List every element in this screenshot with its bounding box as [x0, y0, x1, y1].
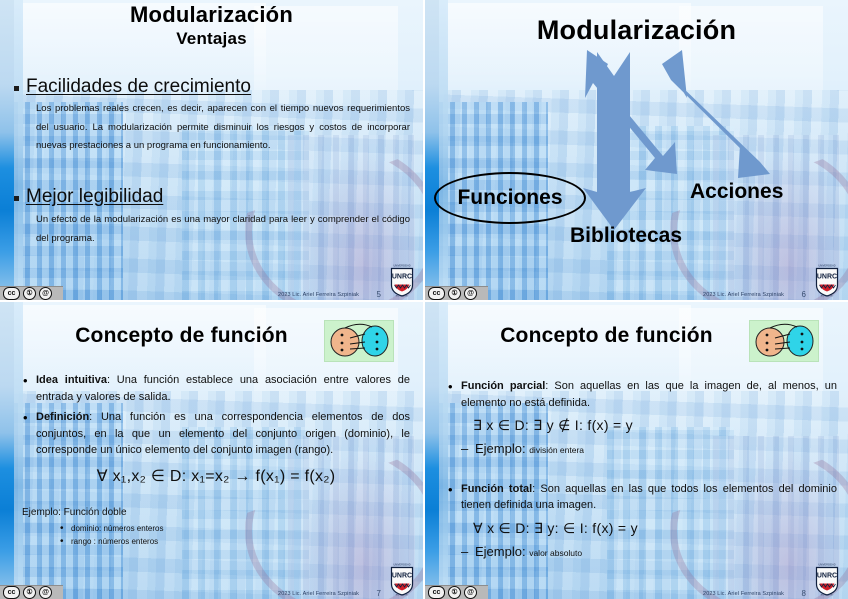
bullet-lead-label: Función total [461, 483, 532, 495]
page-number: 8 [802, 589, 806, 598]
slide-modularizacion-diagrama[interactable]: Modularización Funciones Bibliotecas Acc… [423, 0, 848, 300]
author-credit: 2023 Lic. Ariel Ferreira Szpiniak [703, 292, 784, 298]
license-bar[interactable]: cc ① @ [0, 286, 63, 300]
list-item: Definición: Una función es una correspon… [22, 409, 410, 459]
license-bar[interactable]: cc ① @ [425, 286, 488, 300]
node-bibliotecas-label[interactable]: Bibliotecas [570, 224, 682, 248]
author-credit: 2023 Lic. Ariel Ferreira Szpiniak [278, 591, 359, 597]
bullet-lead-label: Función parcial [461, 380, 545, 392]
cc-icon[interactable]: cc [3, 287, 20, 300]
slide-subtitle: Ventajas [0, 29, 423, 49]
unrc-shield-logo: UNIVERSIDAD UNRC RIO CUARTO [814, 263, 840, 297]
slide-title: Modularización [425, 15, 848, 46]
slide-title: Modularización [0, 2, 423, 28]
author-credit: 2023 Lic. Ariel Ferreira Szpiniak [703, 591, 784, 597]
partial-function-formula: ∃ x ∈ D: ∃ y ∉ I: f(x) = y [473, 415, 837, 436]
node-funciones-label: Funciones [457, 186, 562, 210]
example-row: Ejemplo: división entera [461, 439, 837, 459]
unrc-shield-logo: UNIVERSIDAD UNRC RIO CUARTO [389, 562, 415, 596]
svg-text:UNRC: UNRC [817, 573, 837, 580]
example-label: Ejemplo: Función doble [22, 505, 410, 520]
svg-text:UNRC: UNRC [817, 274, 837, 281]
slide-concepto-de-funcion-2[interactable]: Concepto de función Función parcial: Son… [423, 300, 848, 599]
section-heading-facilidades: Facilidades de crecimiento [14, 76, 304, 98]
example-label: Ejemplo: [475, 441, 526, 456]
cc-icon[interactable]: cc [428, 586, 445, 599]
function-type-list: Función parcial: Son aquellas en las que… [447, 378, 837, 561]
bullet-lead-label: Idea intuitiva [36, 374, 107, 386]
svg-text:UNRC: UNRC [392, 274, 412, 281]
list-item: Función total: Son aquellas en las que t… [447, 481, 837, 562]
example-item-list: dominio: números enteros rango : números… [60, 522, 410, 549]
unrc-shield-logo: UNIVERSIDAD UNRC RIO CUARTO [389, 263, 415, 297]
node-acciones-label[interactable]: Acciones [690, 180, 783, 204]
arrow-to-bibliotecas-icon [580, 52, 670, 232]
page-number: 6 [802, 290, 806, 299]
section-heading-label: Mejor legibilidad [26, 186, 163, 208]
list-item: Función parcial: Son aquellas en las que… [447, 378, 837, 459]
cc-by-icon[interactable]: ① [448, 586, 461, 599]
cc-by-icon[interactable]: ① [23, 586, 36, 599]
list-item: Idea intuitiva: Una función establece un… [22, 372, 410, 405]
arrow-to-acciones-icon [660, 50, 820, 182]
cc-nd-icon[interactable]: @ [464, 586, 477, 599]
example-value: división entera [529, 445, 584, 455]
example-row: Ejemplo: valor absoluto [461, 542, 837, 562]
license-bar[interactable]: cc ① @ [425, 585, 488, 599]
svg-text:UNIVERSIDAD: UNIVERSIDAD [818, 265, 835, 268]
svg-text:UNRC: UNRC [392, 573, 412, 580]
svg-text:UNIVERSIDAD: UNIVERSIDAD [393, 265, 410, 268]
page-number: 5 [377, 290, 381, 299]
example-label: Ejemplo: [475, 544, 526, 559]
section-paragraph-facilidades: Los problemas reales crecen, es decir, a… [36, 100, 410, 156]
svg-text:UNIVERSIDAD: UNIVERSIDAD [393, 564, 410, 567]
slide-concepto-de-funcion-1[interactable]: Concepto de función Idea intuitiva: Una … [0, 300, 423, 599]
list-item: dominio: números enteros [60, 522, 410, 536]
node-funciones[interactable]: Funciones [434, 172, 586, 224]
license-bar[interactable]: cc ① @ [0, 585, 63, 599]
bullet-text: : Una función es una correspondencia ele… [36, 411, 410, 456]
page-number: 7 [377, 589, 381, 598]
cc-icon[interactable]: cc [3, 586, 20, 599]
author-credit: 2023 Lic. Ariel Ferreira Szpiniak [278, 292, 359, 298]
example-value: valor absoluto [529, 548, 582, 558]
list-item: rango : números enteros [60, 535, 410, 549]
cc-by-icon[interactable]: ① [23, 287, 36, 300]
section-paragraph-legibilidad: Un efecto de la modularización es una ma… [36, 211, 410, 248]
slide-modularizacion-ventajas[interactable]: Modularización Ventajas Facilidades de c… [0, 0, 423, 300]
square-bullet-icon [14, 196, 19, 201]
concept-bullet-list: Idea intuitiva: Una función establece un… [22, 372, 410, 459]
square-bullet-icon [14, 86, 19, 91]
section-heading-label: Facilidades de crecimiento [26, 76, 251, 98]
function-mapping-diagram-icon [324, 320, 394, 362]
slide-deck-grid: Modularización Ventajas Facilidades de c… [0, 0, 848, 599]
svg-text:UNIVERSIDAD: UNIVERSIDAD [818, 564, 835, 567]
total-function-formula: ∀ x ∈ D: ∃ y: ∈ I: f(x) = y [473, 518, 837, 539]
unrc-shield-logo: UNIVERSIDAD UNRC RIO CUARTO [814, 562, 840, 596]
function-formula: ∀ x₁,x₂ ∈ D: x₁=x₂ → f(x₁) = f(x₂) [22, 465, 410, 489]
cc-nd-icon[interactable]: @ [464, 287, 477, 300]
bullet-lead-label: Definición [36, 411, 89, 423]
section-heading-legibilidad: Mejor legibilidad [14, 186, 304, 208]
cc-by-icon[interactable]: ① [448, 287, 461, 300]
function-mapping-diagram-icon [749, 320, 819, 362]
cc-icon[interactable]: cc [428, 287, 445, 300]
cc-nd-icon[interactable]: @ [39, 586, 52, 599]
cc-nd-icon[interactable]: @ [39, 287, 52, 300]
